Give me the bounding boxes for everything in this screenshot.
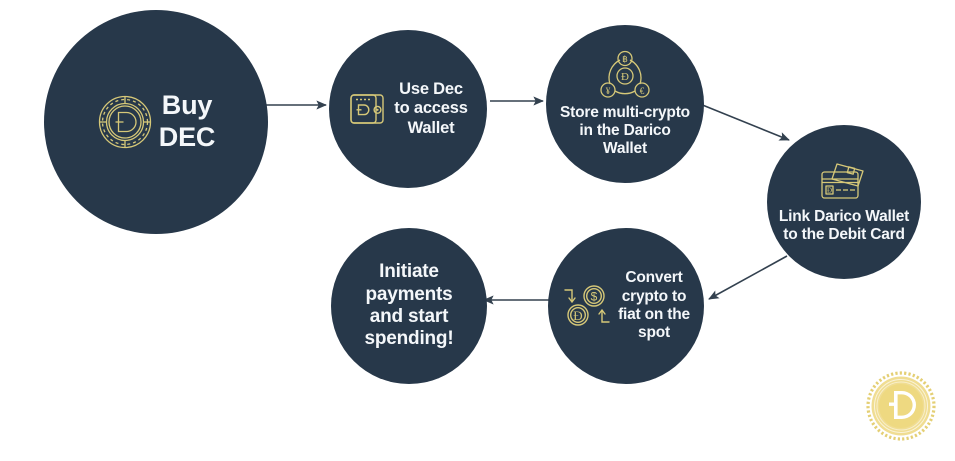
flow-node-use-dec[interactable]: Use Dec to access Wallet [329, 30, 487, 188]
flow-node-label: Store multi-crypto in the Darico Wallet [560, 104, 690, 159]
diagram-canvas: Buy DEC Use Dec to access Wal [0, 0, 955, 461]
flow-node-label: Initiate payments and start spending! [365, 261, 454, 351]
svg-text:Ð: Ð [621, 71, 629, 83]
flow-node-label: Use Dec to access Wallet [394, 80, 467, 138]
svg-text:Ð: Ð [827, 186, 832, 194]
multi-crypto-icon: ฿ Ð ¥ € [597, 50, 653, 102]
svg-text:Ð: Ð [573, 308, 582, 323]
flow-node-label: Link Darico Wallet to the Debit Card [779, 208, 909, 245]
flow-node-link-card[interactable]: Ð Link Darico Wallet to the Debit Card [767, 125, 921, 279]
flow-node-label: Buy DEC [159, 90, 215, 154]
flow-node-buy-dec[interactable]: Buy DEC [44, 10, 268, 234]
svg-text:$: $ [591, 290, 598, 304]
flow-node-store-crypto[interactable]: ฿ Ð ¥ € Store multi-crypto in the Darico… [546, 25, 704, 183]
svg-text:฿: ฿ [622, 54, 628, 64]
darico-coin-icon [97, 94, 153, 150]
convert-crypto-icon: $ Ð [562, 282, 612, 330]
debit-card-icon: Ð [817, 160, 871, 206]
svg-text:¥: ¥ [606, 86, 611, 96]
flow-node-convert[interactable]: $ Ð Convert crypto to fiat on the spot [548, 228, 704, 384]
darico-coin-logo [866, 371, 936, 441]
svg-text:€: € [640, 86, 645, 96]
flow-node-label: Convert crypto to fiat on the spot [618, 269, 690, 342]
wallet-icon [348, 89, 388, 129]
flow-node-initiate[interactable]: Initiate payments and start spending! [331, 228, 487, 384]
